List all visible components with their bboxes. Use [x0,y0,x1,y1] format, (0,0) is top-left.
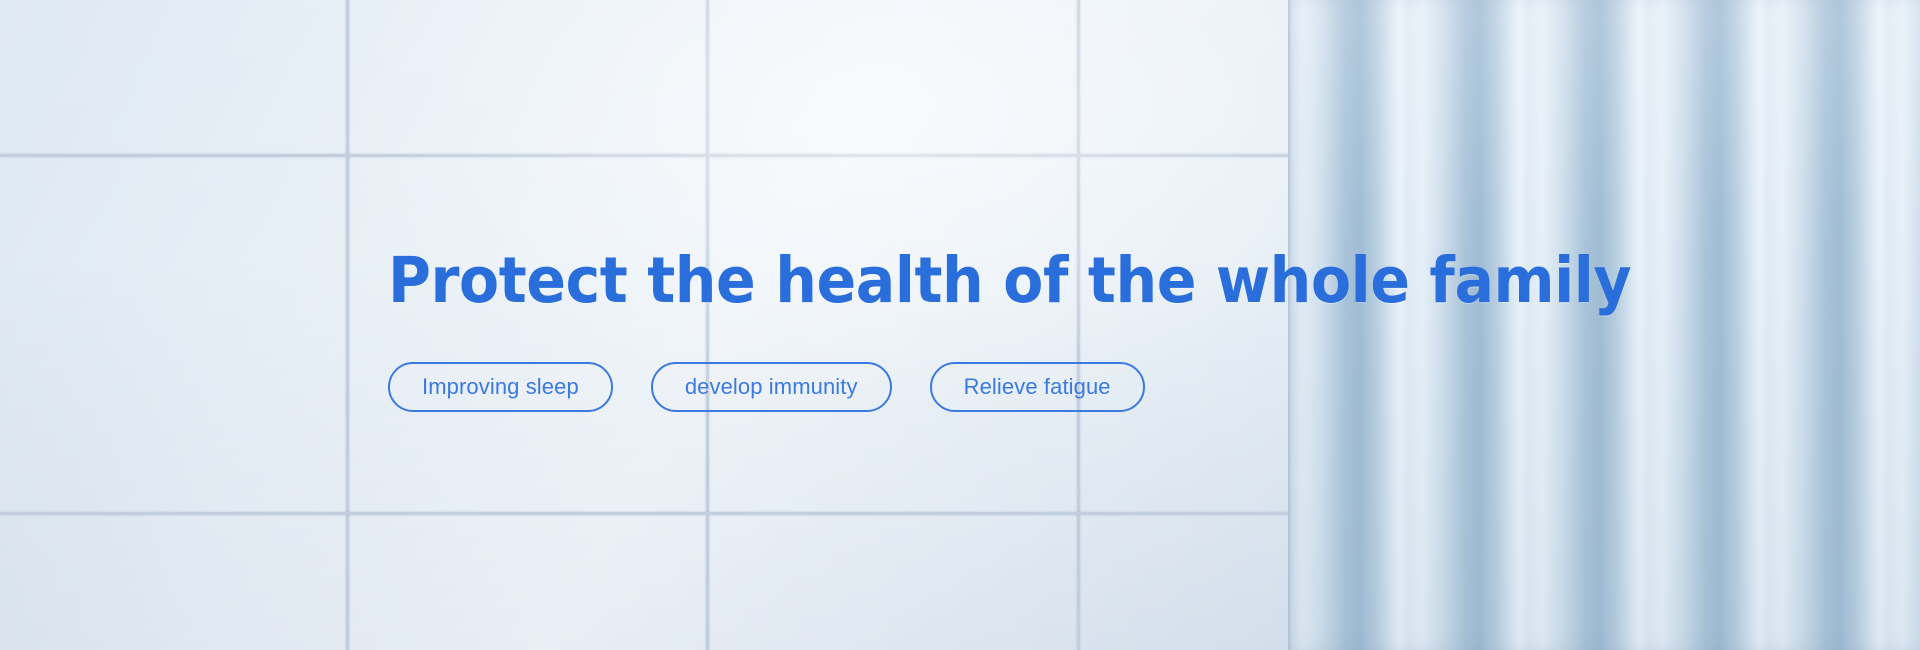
benefit-tag-develop-immunity[interactable]: develop immunity [651,362,892,412]
page-title: Protect the health of the whole family [388,248,1430,314]
hero-content: Protect the health of the whole family I… [388,248,1508,412]
tile-grout-line-vertical [346,0,349,650]
benefit-tag-improving-sleep[interactable]: Improving sleep [388,362,613,412]
benefit-tag-relieve-fatigue[interactable]: Relieve fatigue [930,362,1145,412]
hero-banner: Protect the health of the whole family I… [0,0,1920,650]
benefit-tag-list: Improving sleep develop immunity Relieve… [388,362,1508,412]
